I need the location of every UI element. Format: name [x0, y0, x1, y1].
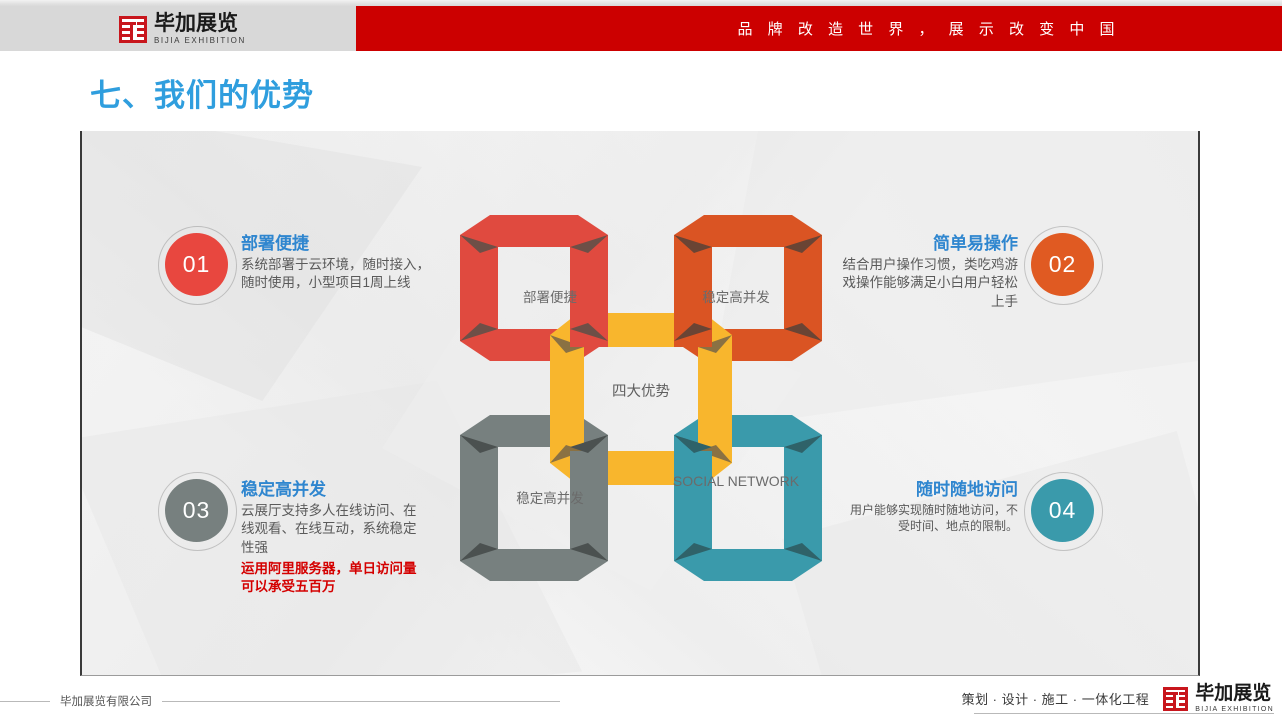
advantage-number-badge-01: 01 — [165, 233, 228, 296]
advantage-title-04: 随时随地访问 — [916, 479, 1018, 500]
footer-left: 毕加展览有限公司 — [0, 690, 560, 712]
ring-label-top-right: 稳定高并发 — [666, 290, 806, 307]
bijia-logo-mark-icon — [119, 16, 147, 43]
advantage-title-02: 简单易操作 — [933, 233, 1018, 254]
ring-label-bottom-left: 稳定高并发 — [480, 491, 620, 508]
advantage-desc-04: 用户能够实现随时随地访问，不受时间、地点的限制。 — [848, 502, 1018, 534]
advantage-block-04: 随时随地访问 用户能够实现随时随地访问，不受时间、地点的限制。 04 — [848, 479, 1094, 542]
footer-tagline: 策划 · 设计 · 施工 · 一体化工程 — [962, 689, 1150, 708]
bg-facet — [782, 431, 1200, 676]
bijia-logo-mark-icon — [1163, 687, 1188, 711]
footer-underline — [974, 713, 1274, 714]
ring-label-bottom-right: SOCIAL NETWORK — [666, 473, 806, 491]
advantage-block-03: 03 稳定高并发 云展厅支持多人在线访问、在线观看、在线互动，系统稳定性强 运用… — [165, 479, 426, 596]
advantage-block-01: 01 部署便捷 系统部署于云环境，随时接入，随时使用，小型项目1周上线 — [165, 233, 431, 296]
page-title: 七、我们的优势 — [90, 70, 314, 115]
ring-bottom-right — [674, 415, 822, 581]
header-logo: 毕加展览 BIJIA EXHIBITION — [119, 13, 246, 45]
header-logo-cn: 毕加展览 — [154, 13, 246, 34]
advantage-desc-03: 云展厅支持多人在线访问、在线观看、在线互动，系统稳定性强 — [241, 502, 426, 557]
advantage-title-01: 部署便捷 — [241, 233, 431, 254]
ring-label-center: 四大优势 — [571, 383, 711, 401]
footer-rule-right — [162, 701, 560, 702]
header-logo-en: BIJIA EXHIBITION — [154, 37, 246, 45]
footer-logo-text: 毕加展览 BIJIA EXHIBITION — [1195, 684, 1274, 713]
advantage-block-02: 简单易操作 结合用户操作习惯，类吃鸡游戏操作能够满足小白用户轻松上手 02 — [838, 233, 1094, 311]
advantage-desc-02: 结合用户操作习惯，类吃鸡游戏操作能够满足小白用户轻松上手 — [838, 256, 1018, 311]
footer-rule-left — [0, 701, 50, 702]
advantage-note-03: 运用阿里服务器，单日访问量可以承受五百万 — [241, 560, 426, 596]
interlocking-rings-diagram: 部署便捷 稳定高并发 稳定高并发 SOCIAL NETWORK 四大优势 — [438, 213, 844, 585]
footer-company-name: 毕加展览有限公司 — [50, 693, 162, 709]
header-slogan: 品 牌 改 造 世 界 ， 展 示 改 变 中 国 — [700, 6, 1210, 51]
footer-right: 策划 · 设计 · 施工 · 一体化工程 毕加展览 BIJIA EXHIBITI… — [962, 684, 1274, 713]
advantage-number-badge-03: 03 — [165, 479, 228, 542]
advantage-title-03: 稳定高并发 — [241, 479, 426, 500]
advantage-number-badge-04: 04 — [1031, 479, 1094, 542]
ring-label-top-left: 部署便捷 — [480, 290, 620, 307]
footer-logo-cn: 毕加展览 — [1195, 684, 1274, 703]
advantage-desc-01: 系统部署于云环境，随时接入，随时使用，小型项目1周上线 — [241, 256, 431, 292]
footer-logo-en: BIJIA EXHIBITION — [1195, 706, 1274, 713]
advantage-number-badge-02: 02 — [1031, 233, 1094, 296]
footer-logo: 毕加展览 BIJIA EXHIBITION — [1163, 684, 1274, 713]
slide-page: 毕加展览 BIJIA EXHIBITION 品 牌 改 造 世 界 ， 展 示 … — [0, 0, 1282, 721]
header-logo-text: 毕加展览 BIJIA EXHIBITION — [154, 13, 246, 45]
